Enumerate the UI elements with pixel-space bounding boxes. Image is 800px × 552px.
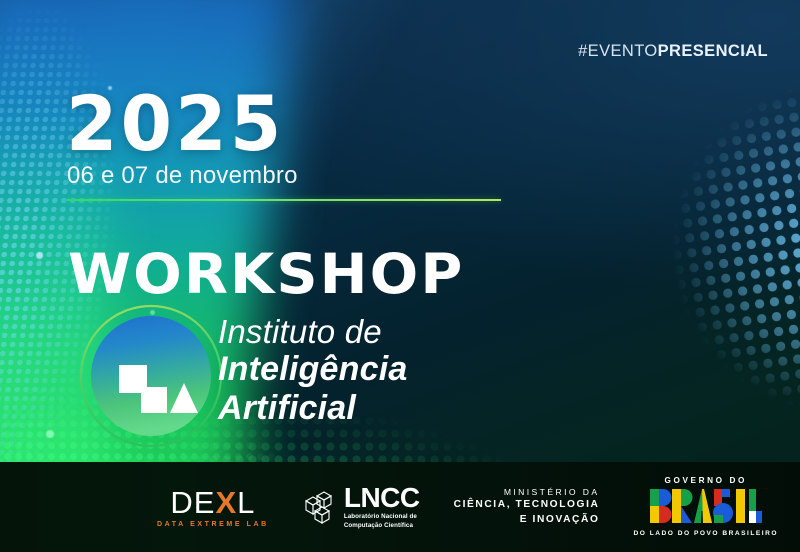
hashtag-light: #EVENTO xyxy=(578,42,658,60)
logo-ministry: MINISTÉRIO DA CIÊNCIA, TECNOLOGIA E INOV… xyxy=(454,486,600,528)
logo-dexl: DEXL DATA EXTREME LAB xyxy=(157,487,269,528)
logo-lncc: LNCC Laboratório Nacional de Computação … xyxy=(303,484,420,530)
govbr-wordmark-icon xyxy=(633,489,778,527)
event-type-title: WORKSHOP xyxy=(68,247,464,302)
logo-govbr: GOVERNO DO xyxy=(633,477,778,538)
divider-rule xyxy=(67,199,501,201)
lncc-cube-icon xyxy=(303,489,339,525)
ministry-line-1: MINISTÉRIO DA xyxy=(454,486,600,498)
institute-logo-icon xyxy=(78,303,224,449)
event-dateline: 06 e 07 de novembro xyxy=(67,162,298,190)
event-banner: #EVENTOPRESENCIAL 2025 06 e 07 de novemb… xyxy=(0,0,800,552)
event-hashtag: #EVENTOPRESENCIAL xyxy=(578,42,768,61)
ministry-line-3: E INOVAÇÃO xyxy=(454,513,600,528)
event-year: 2025 xyxy=(66,86,284,162)
dexl-subtitle: DATA EXTREME LAB xyxy=(157,521,269,528)
dexl-word-pre: DE xyxy=(170,485,215,520)
dexl-word-post: L xyxy=(237,485,255,520)
dexl-word-x: X xyxy=(215,485,237,520)
dexl-wordmark: DEXL xyxy=(157,487,269,518)
institute-line-3: Artificial xyxy=(218,389,407,427)
hashtag-bold: PRESENCIAL xyxy=(658,42,768,60)
institute-name: Instituto de Inteligência Artificial xyxy=(218,313,407,427)
institute-line-2: Inteligência xyxy=(218,350,407,388)
lncc-subtitle-line-2: Computação Científica xyxy=(344,522,420,530)
lncc-subtitle: Laboratório Nacional de Computação Cient… xyxy=(344,513,420,530)
footer-bar: DEXL DATA EXTREME LAB xyxy=(0,462,800,552)
institute-line-1: Instituto de xyxy=(218,313,407,350)
govbr-top-label: GOVERNO DO xyxy=(633,477,778,485)
lncc-wordmark: LNCC xyxy=(344,484,420,512)
sparkle-icon xyxy=(36,252,43,259)
govbr-subtitle: DO LADO DO POVO BRASILEIRO xyxy=(633,531,778,538)
sparkle-icon xyxy=(46,430,54,438)
lncc-subtitle-line-1: Laboratório Nacional de xyxy=(344,513,420,521)
ministry-line-2: CIÊNCIA, TECNOLOGIA xyxy=(454,498,600,513)
